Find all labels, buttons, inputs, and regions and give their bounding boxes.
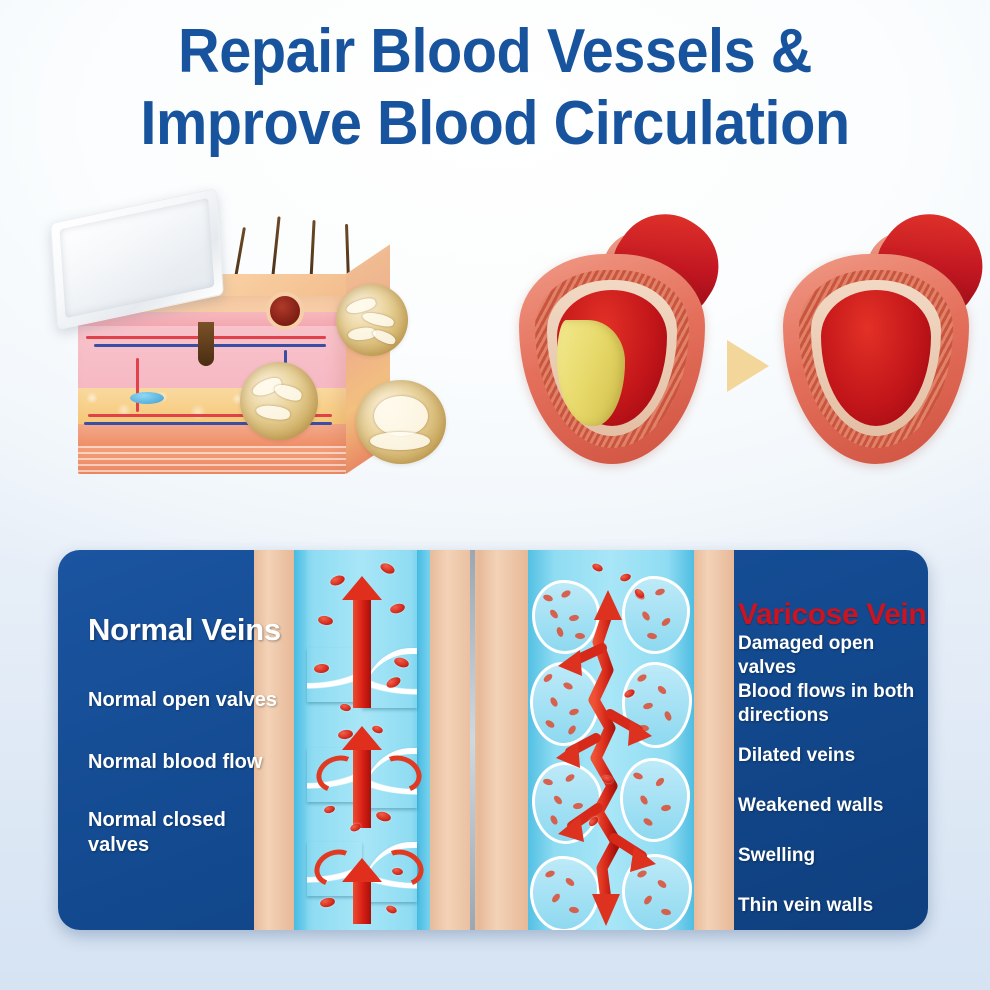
red-blood-cell	[385, 904, 398, 915]
varicose-veins-heading: Varicose Veins	[738, 598, 928, 632]
normal-veins-bullet: Normal blood flow	[88, 750, 278, 775]
normal-veins-bullet: Normal closed valves	[88, 808, 278, 858]
poster-root: Repair Blood Vessels & Improve Blood Cir…	[0, 0, 990, 990]
illustration-row	[0, 196, 990, 536]
ingredient-circle-herb-chips	[240, 362, 318, 440]
clear-artery	[777, 216, 977, 466]
skin-cross-section-illustration	[40, 202, 510, 532]
capillary-red	[136, 358, 139, 412]
clogged-artery	[513, 216, 713, 466]
artery-comparison-illustration	[505, 210, 975, 510]
normal-vein-cross-section	[294, 550, 430, 930]
varicose-veins-bullet: Thin vein walls	[738, 894, 928, 918]
varicose-veins-bullet: Dilated veins	[738, 744, 928, 768]
red-blood-cell	[323, 805, 335, 814]
vein-comparison-panel: Normal Veins Normal open valves Normal b…	[58, 550, 928, 930]
transition-arrow-icon	[727, 340, 769, 392]
title-line-1: Repair Blood Vessels &	[35, 16, 956, 88]
blood-flow-arrow-up	[353, 748, 371, 828]
leg-skin	[480, 550, 528, 930]
normal-veins-heading: Normal Veins	[88, 612, 281, 648]
red-blood-cell	[375, 810, 392, 823]
varicose-veins-text-column: Varicose Veins Damaged open valves Blood…	[726, 550, 922, 930]
sweat-gland	[130, 392, 164, 404]
turbulent-blood-flow-path	[528, 550, 694, 930]
panel-divider	[470, 550, 475, 930]
varicose-vein-cross-section	[528, 550, 694, 930]
red-blood-cell	[379, 561, 396, 575]
red-blood-cell	[317, 615, 333, 626]
ingredient-circle-herb-roots	[336, 284, 408, 356]
normal-veins-bullet: Normal open valves	[88, 688, 278, 713]
ingredient-circle-ginger-slice	[356, 380, 446, 464]
hair-follicle	[198, 322, 214, 366]
red-blood-cell	[389, 602, 406, 615]
title-line-2: Improve Blood Circulation	[35, 88, 956, 160]
page-title: Repair Blood Vessels & Improve Blood Cir…	[0, 16, 990, 160]
vein-diagram	[254, 550, 734, 930]
mole	[266, 292, 304, 330]
red-blood-cell	[319, 897, 336, 909]
red-blood-cell	[339, 703, 351, 712]
red-blood-cell	[349, 822, 362, 833]
varicose-veins-bullet: Damaged open valves Blood flows in both …	[738, 632, 928, 728]
normal-veins-text-column: Normal Veins Normal open valves Normal b…	[72, 550, 268, 930]
muscle-striation	[78, 446, 346, 476]
vein-wall	[294, 550, 307, 930]
varicose-veins-bullet: Swelling	[738, 844, 928, 868]
blood-flow-arrow-up	[353, 598, 371, 708]
varicose-veins-bullet: Weakened walls	[738, 794, 928, 818]
blood-flow-arrow-up	[353, 880, 371, 924]
